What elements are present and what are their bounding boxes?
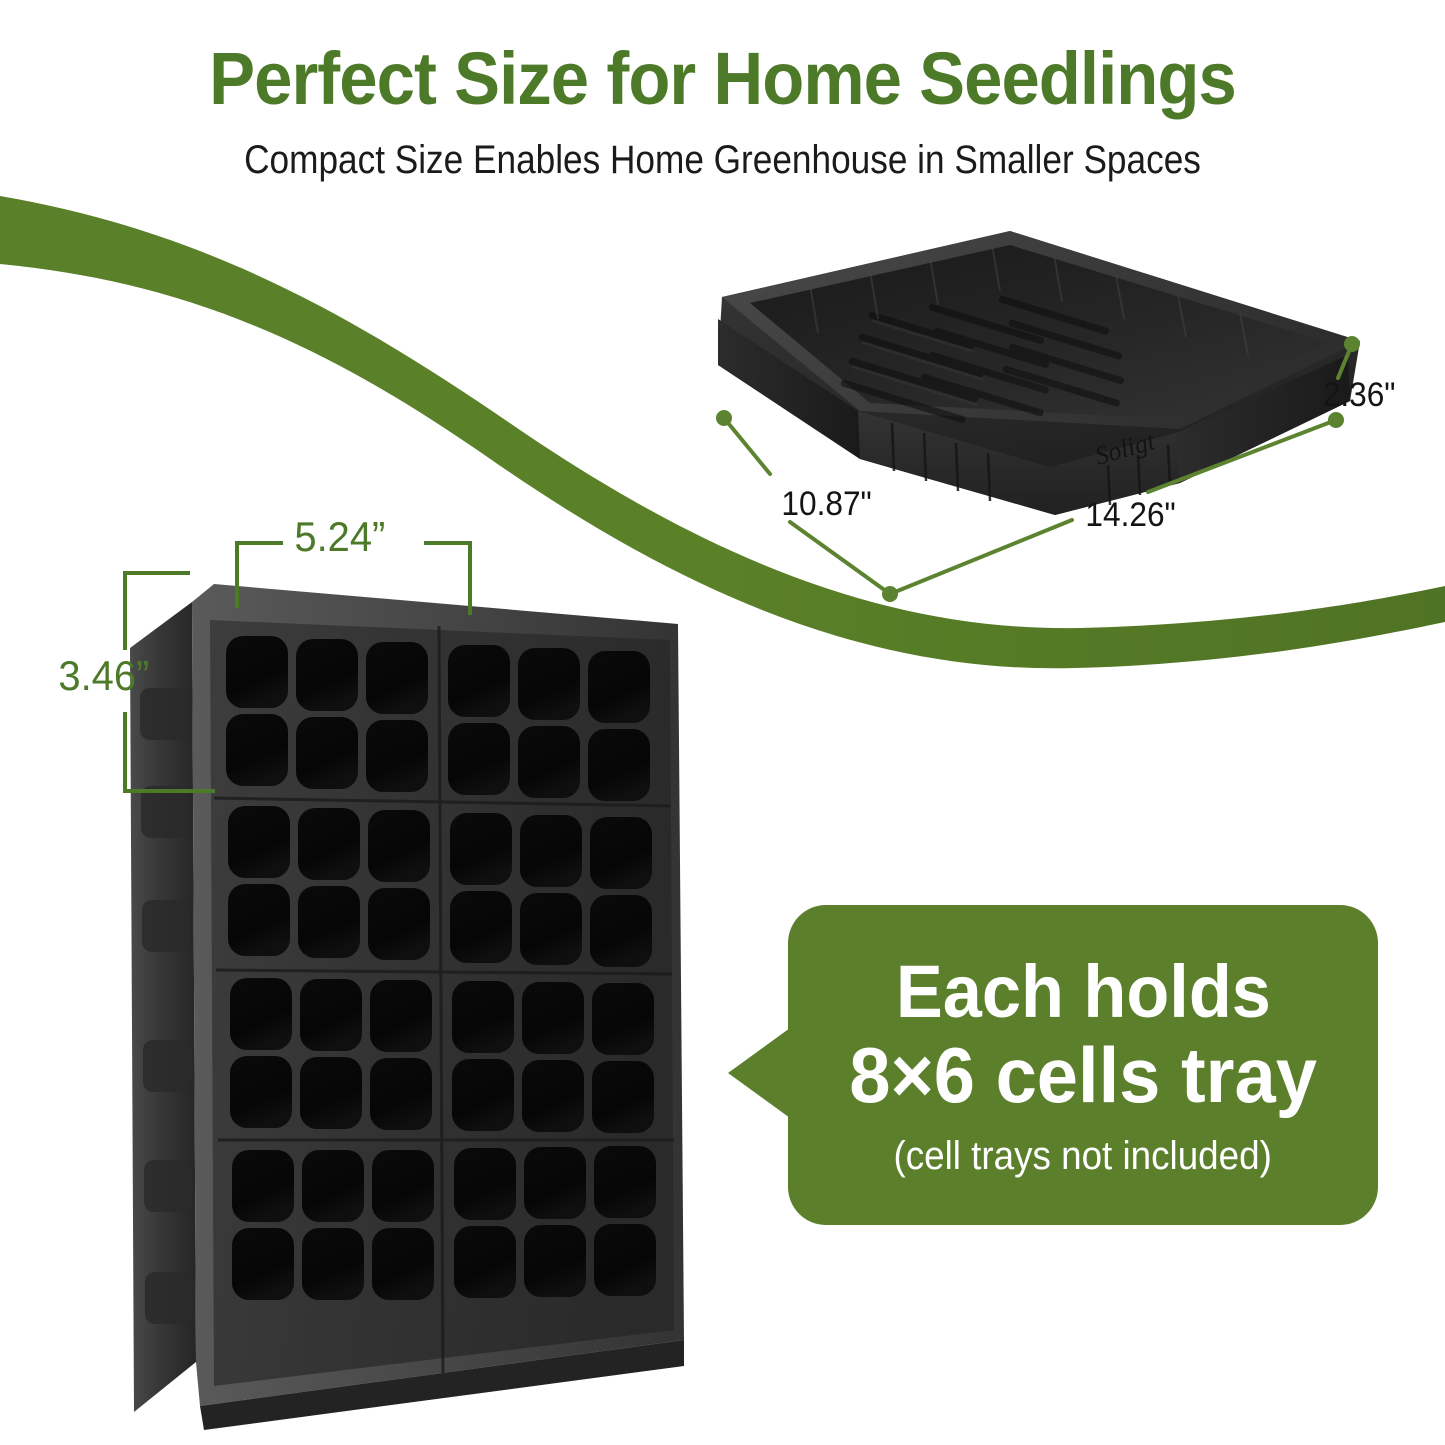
page-title: Perfect Size for Home Seedlings bbox=[51, 0, 1395, 116]
header: Perfect Size for Home Seedlings Compact … bbox=[0, 0, 1445, 180]
infographic-canvas: Perfect Size for Home Seedlings Compact … bbox=[0, 0, 1445, 1445]
left-cell-tray-illustration bbox=[118, 540, 718, 1440]
left-tray-height-label: 3.46” bbox=[58, 655, 149, 697]
top-tray-width-label: 14.26" bbox=[1085, 498, 1175, 532]
top-tray-height-label: 2.36" bbox=[1323, 378, 1396, 412]
page-subtitle: Compact Size Enables Home Greenhouse in … bbox=[87, 116, 1359, 180]
callout-line-1: Each holds bbox=[895, 954, 1270, 1029]
callout-bubble: Each holds 8×6 cells tray (cell trays no… bbox=[788, 905, 1378, 1225]
callout-line-3: (cell trays not included) bbox=[894, 1136, 1272, 1176]
top-tray-depth-label: 10.87" bbox=[781, 487, 871, 521]
callout-line-2: 8×6 cells tray bbox=[849, 1036, 1317, 1116]
callout-tail bbox=[728, 1028, 790, 1118]
left-tray-width-label: 5.24” bbox=[294, 516, 385, 558]
